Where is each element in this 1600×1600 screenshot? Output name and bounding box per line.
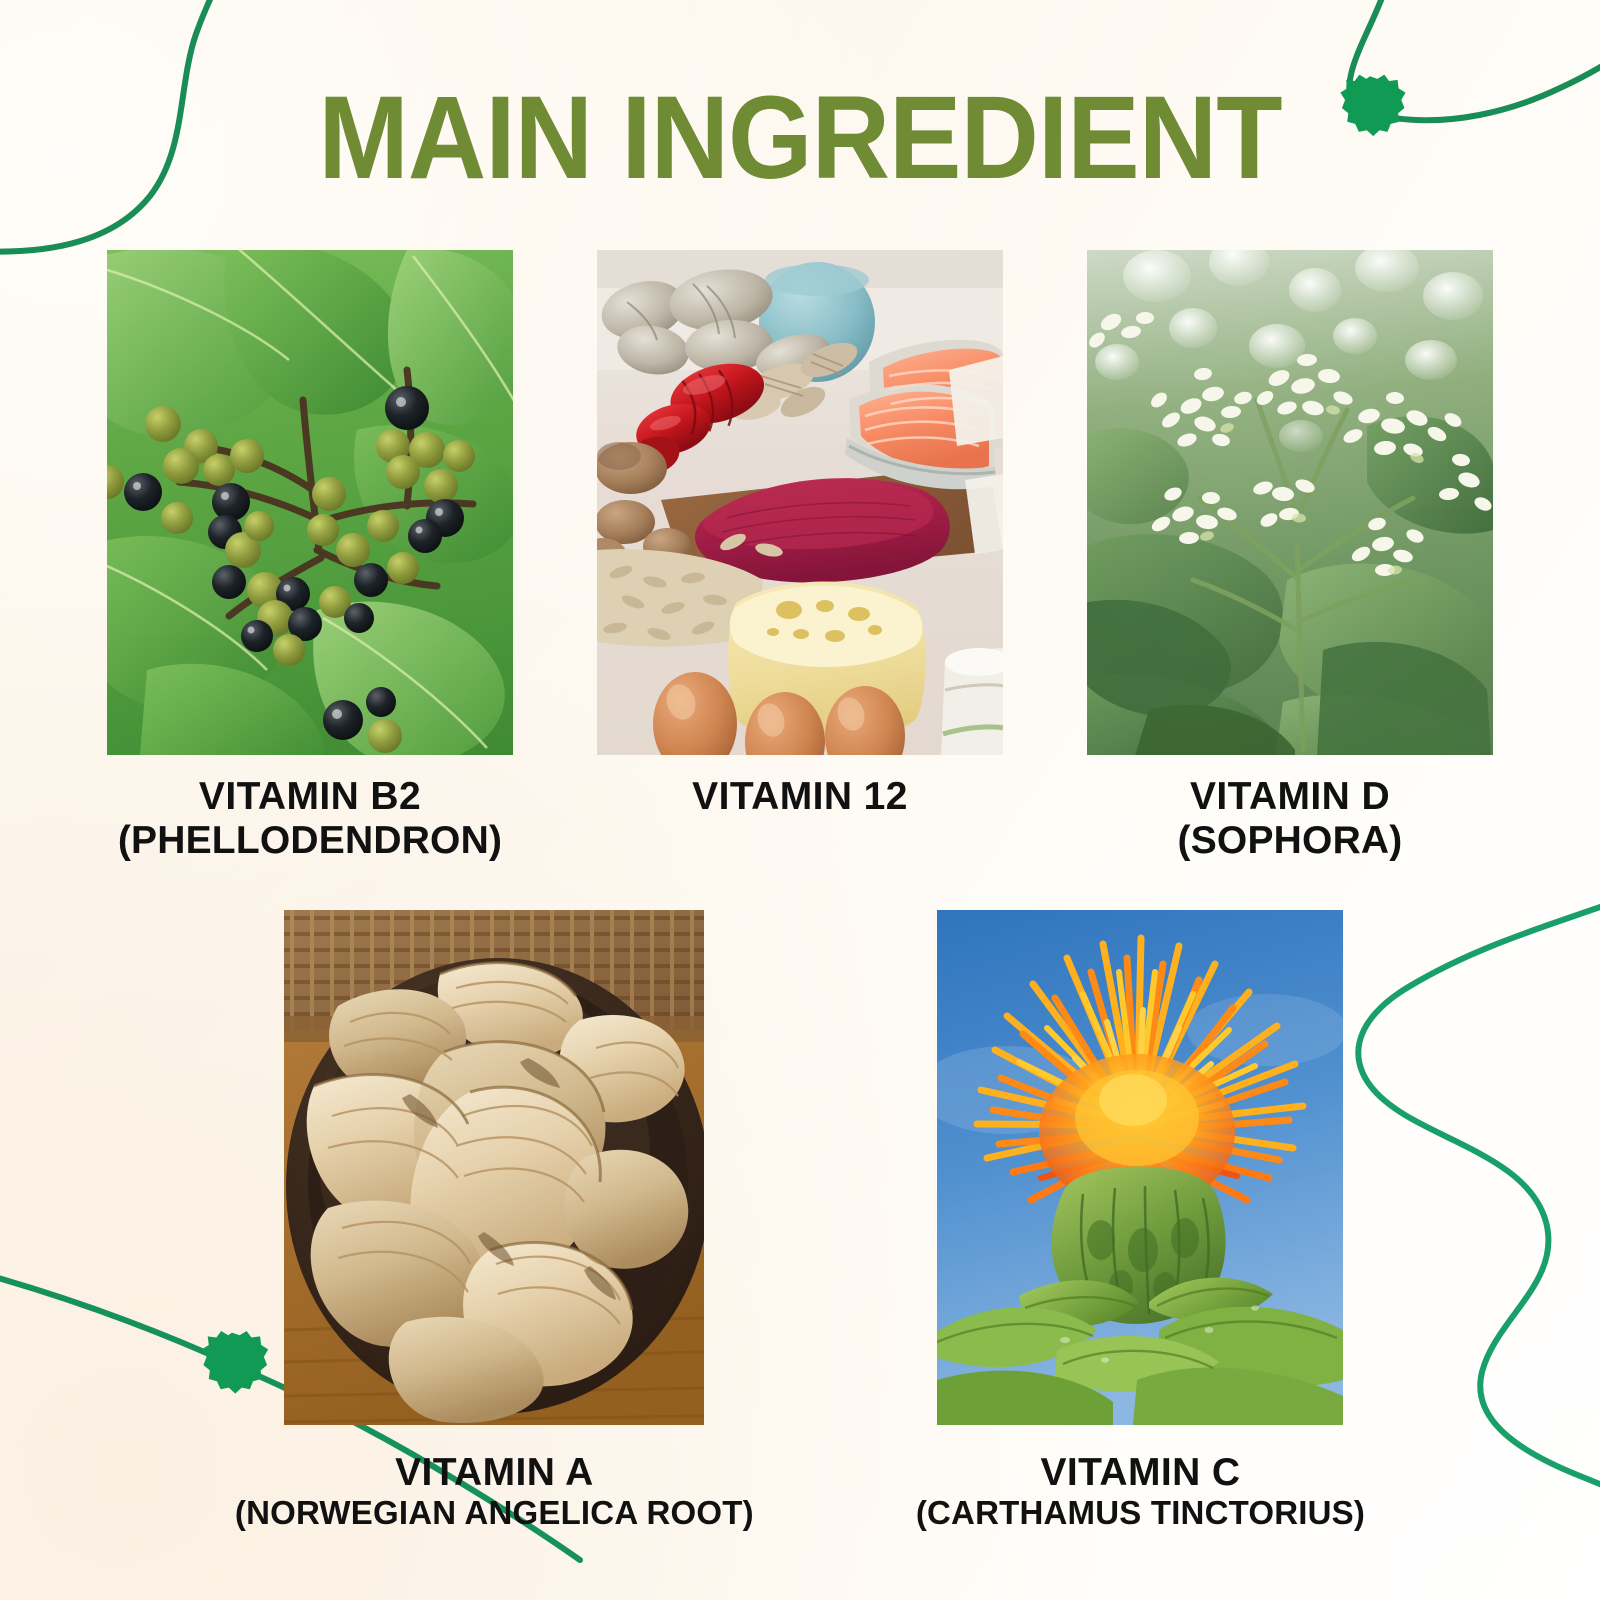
caption-vitamin-a: VITAMIN A (NORWEGIAN ANGELICA ROOT) [235, 1451, 754, 1532]
dried-angelica-root-slices-photo [284, 910, 704, 1425]
caption-vitamin-c: VITAMIN C (CARTHAMUS TINCTORIUS) [916, 1451, 1365, 1532]
caption-line1: VITAMIN 12 [692, 775, 908, 819]
page-title: MAIN INGREDIENT [64, 78, 1536, 198]
caption-line2: (NORWEGIAN ANGELICA ROOT) [235, 1495, 754, 1532]
caption-line1: VITAMIN B2 [118, 775, 502, 819]
ingredient-card-vitamin-12[interactable]: VITAMIN 12 [597, 250, 1003, 862]
ingredient-card-vitamin-c[interactable]: VITAMIN C (CARTHAMUS TINCTORIUS) [916, 910, 1365, 1532]
caption-vitamin-b2: VITAMIN B2 (PHELLODENDRON) [118, 775, 502, 862]
caption-line1: VITAMIN C [916, 1451, 1365, 1495]
caption-vitamin-12: VITAMIN 12 [692, 775, 908, 819]
vitamin-b12-food-sources-photo [597, 250, 1003, 755]
caption-line1: VITAMIN A [235, 1451, 754, 1495]
ingredient-row-top: VITAMIN B2 (PHELLODENDRON) [0, 250, 1600, 862]
page-title-wrapper: MAIN INGREDIENT [0, 78, 1600, 198]
poster-canvas: MAIN INGREDIENT [0, 0, 1600, 1600]
caption-line1: VITAMIN D [1178, 775, 1403, 819]
sophora-japonica-flowers-photo [1087, 250, 1493, 755]
ingredient-card-vitamin-d[interactable]: VITAMIN D (SOPHORA) [1087, 250, 1493, 862]
phellodendron-berries-photo [107, 250, 513, 755]
caption-line2: (CARTHAMUS TINCTORIUS) [916, 1495, 1365, 1532]
caption-line2: (SOPHORA) [1178, 819, 1403, 863]
caption-line2: (PHELLODENDRON) [118, 819, 502, 863]
ingredient-card-vitamin-b2[interactable]: VITAMIN B2 (PHELLODENDRON) [107, 250, 513, 862]
safflower-carthamus-tinctorius-photo [937, 910, 1343, 1425]
caption-vitamin-d: VITAMIN D (SOPHORA) [1178, 775, 1403, 862]
ingredient-card-vitamin-a[interactable]: VITAMIN A (NORWEGIAN ANGELICA ROOT) [235, 910, 754, 1532]
ingredient-row-bottom: VITAMIN A (NORWEGIAN ANGELICA ROOT) [0, 910, 1600, 1532]
